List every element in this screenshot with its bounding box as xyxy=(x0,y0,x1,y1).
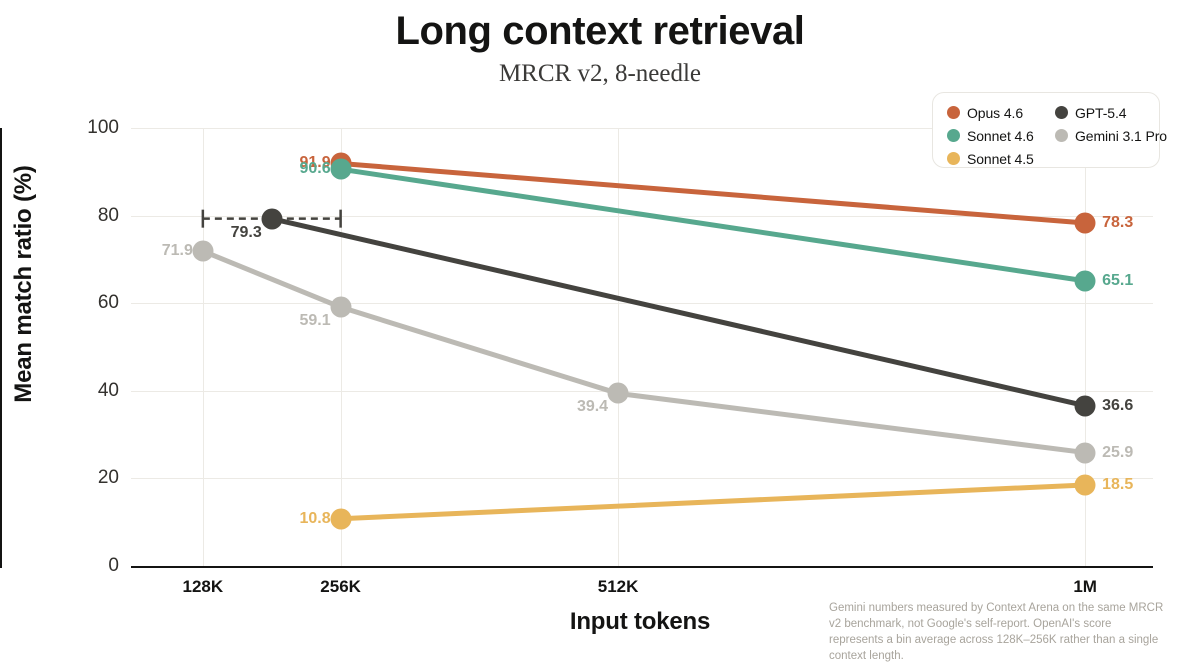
legend-item[interactable]: GPT-5.4 xyxy=(1055,102,1167,123)
series-line xyxy=(341,169,1086,281)
y-axis-line xyxy=(0,128,2,568)
y-axis-title: Mean match ratio (%) xyxy=(10,24,38,544)
series-line xyxy=(272,219,1085,406)
data-point-label: 18.5 xyxy=(1102,476,1133,494)
legend-item[interactable]: Gemini 3.1 Pro xyxy=(1055,125,1167,146)
y-axis-tick-label: 80 xyxy=(59,205,119,227)
legend-column-left: Opus 4.6Sonnet 4.6Sonnet 4.5 xyxy=(947,102,1034,171)
data-point-label: 79.3 xyxy=(214,224,262,242)
data-point-marker xyxy=(330,508,351,529)
x-axis-line xyxy=(131,566,1153,568)
data-point-label: 78.3 xyxy=(1102,214,1133,232)
data-point-marker xyxy=(1075,442,1096,463)
series-line xyxy=(203,251,1085,452)
x-axis-title: Input tokens xyxy=(500,608,780,636)
data-point-marker xyxy=(1075,270,1096,291)
legend-item[interactable]: Sonnet 4.6 xyxy=(947,125,1034,146)
plot-area: 91.978.390.665.110.818.579.336.671.959.1… xyxy=(131,128,1153,566)
legend-item-label: Gemini 3.1 Pro xyxy=(1075,128,1167,144)
y-axis-tick-label: 0 xyxy=(59,555,119,577)
page-subtitle: MRCR v2, 8-needle xyxy=(0,58,1200,90)
x-axis-tick-label: 512K xyxy=(558,576,678,598)
data-point-marker xyxy=(608,383,629,404)
legend-item-label: GPT-5.4 xyxy=(1075,105,1126,121)
data-point-label: 25.9 xyxy=(1102,444,1133,462)
x-axis-tick-label: 256K xyxy=(281,576,401,598)
data-point-label: 65.1 xyxy=(1102,272,1133,290)
legend-swatch-icon xyxy=(1055,106,1068,119)
legend-column-right: GPT-5.4Gemini 3.1 Pro xyxy=(1055,102,1167,148)
data-point-marker xyxy=(1075,474,1096,495)
legend-swatch-icon xyxy=(1055,129,1068,142)
series-lines xyxy=(131,128,1153,566)
legend-item[interactable]: Opus 4.6 xyxy=(947,102,1034,123)
footnote: Gemini numbers measured by Context Arena… xyxy=(829,600,1164,664)
data-point-label: 90.6 xyxy=(283,160,331,178)
y-axis-tick-label: 20 xyxy=(59,467,119,489)
data-point-label: 39.4 xyxy=(560,398,608,416)
legend-swatch-icon xyxy=(947,152,960,165)
y-axis-tick-label: 40 xyxy=(59,380,119,402)
series-line xyxy=(341,485,1086,519)
data-point-marker xyxy=(261,208,282,229)
data-point-label: 71.9 xyxy=(145,242,193,260)
legend: Opus 4.6Sonnet 4.6Sonnet 4.5 GPT-5.4Gemi… xyxy=(932,92,1160,168)
data-point-marker xyxy=(192,241,213,262)
data-point-marker xyxy=(330,159,351,180)
data-point-marker xyxy=(1075,213,1096,234)
data-point-label: 36.6 xyxy=(1102,397,1133,415)
data-point-label: 59.1 xyxy=(283,312,331,330)
y-axis-tick-label: 100 xyxy=(59,117,119,139)
x-axis-tick-label: 128K xyxy=(143,576,263,598)
data-point-label: 10.8 xyxy=(283,510,331,528)
series-line xyxy=(341,163,1086,223)
legend-item-label: Sonnet 4.5 xyxy=(967,151,1034,167)
x-axis-tick-label: 1M xyxy=(1025,576,1145,598)
page-title: Long context retrieval xyxy=(0,6,1200,56)
chart-page: Long context retrieval MRCR v2, 8-needle… xyxy=(0,0,1200,670)
legend-swatch-icon xyxy=(947,129,960,142)
legend-swatch-icon xyxy=(947,106,960,119)
legend-item-label: Sonnet 4.6 xyxy=(967,128,1034,144)
legend-item-label: Opus 4.6 xyxy=(967,105,1023,121)
data-point-marker xyxy=(1075,395,1096,416)
legend-item[interactable]: Sonnet 4.5 xyxy=(947,148,1034,169)
data-point-marker xyxy=(330,297,351,318)
y-axis-tick-label: 60 xyxy=(59,292,119,314)
